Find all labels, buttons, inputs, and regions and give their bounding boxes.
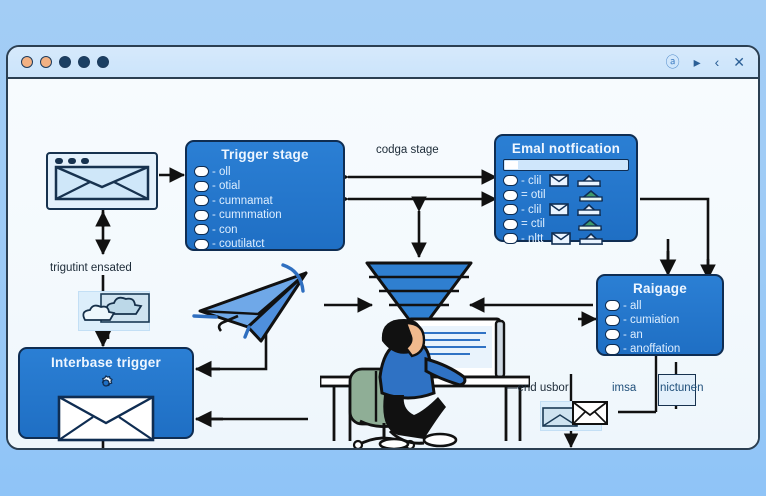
list-item[interactable]: - clil bbox=[503, 203, 629, 216]
bullet-icon bbox=[605, 315, 620, 326]
card-interbase-trigger[interactable]: Interbase trigger bbox=[18, 347, 194, 439]
play-icon[interactable]: ▸ bbox=[694, 55, 701, 69]
list-item[interactable]: - con bbox=[194, 223, 336, 236]
list-item[interactable]: - cumnamat bbox=[194, 194, 336, 207]
window-dot-2[interactable] bbox=[40, 56, 52, 68]
paper-plane-icon bbox=[188, 259, 338, 349]
cloud-panel[interactable] bbox=[78, 291, 150, 331]
label-codga-stage: codga stage bbox=[376, 144, 439, 156]
close-icon[interactable]: ✕ bbox=[733, 55, 745, 69]
bullet-icon bbox=[503, 204, 518, 215]
mini-dot-1 bbox=[55, 158, 63, 164]
envelope-icon bbox=[549, 174, 569, 187]
window-dots bbox=[21, 56, 109, 68]
list-item-label: - all bbox=[623, 300, 642, 312]
list-item[interactable]: - oll bbox=[194, 165, 336, 178]
card-trigger-stage[interactable]: Trigger stage - oll - otial - cumnamat -… bbox=[185, 140, 345, 251]
label-trigutint-ensated: trigutint ensated bbox=[50, 262, 132, 274]
bullet-icon bbox=[194, 181, 209, 192]
bullet-icon bbox=[503, 175, 518, 186]
label-end-usbor: —end usbor bbox=[506, 382, 569, 394]
mini-dot-2 bbox=[68, 158, 76, 164]
back-icon[interactable]: ‹ bbox=[715, 55, 720, 69]
cloud-icons bbox=[79, 292, 151, 332]
browser-window: ⓐ ▸ ‹ ✕ bbox=[6, 45, 760, 450]
window-envelope-icon[interactable] bbox=[46, 152, 158, 210]
list-item[interactable]: - all bbox=[605, 299, 715, 312]
bullet-icon bbox=[605, 300, 620, 311]
window-dot-1[interactable] bbox=[21, 56, 33, 68]
list-item-label: - clil bbox=[521, 204, 541, 216]
list-item-label: = ctil bbox=[521, 218, 545, 230]
window-controls: ⓐ ▸ ‹ ✕ bbox=[666, 55, 745, 69]
list-item-label: - cumnamat bbox=[212, 195, 273, 207]
list-item-label: - cumiation bbox=[623, 314, 679, 326]
envelope-icon bbox=[57, 395, 155, 442]
list-item-label: = otil bbox=[521, 189, 546, 201]
envelope-icon bbox=[549, 203, 569, 216]
card-title-trigger-stage: Trigger stage bbox=[194, 147, 336, 162]
bullet-icon bbox=[503, 190, 518, 201]
send-envelope-icon bbox=[541, 398, 611, 432]
person-at-desk-illustration bbox=[320, 311, 530, 450]
open-envelope-icon bbox=[577, 203, 601, 216]
window-dot-4[interactable] bbox=[78, 56, 90, 68]
label-nictunen: nictunen bbox=[660, 382, 703, 394]
envelope-icon bbox=[54, 165, 150, 201]
open-envelope-icon bbox=[579, 232, 603, 245]
envelope-panel[interactable] bbox=[540, 401, 602, 431]
open-envelope-icon bbox=[577, 174, 601, 187]
mini-dot-3 bbox=[81, 158, 89, 164]
card-title-raigage: Raigage bbox=[605, 281, 715, 296]
gear-icon[interactable] bbox=[96, 373, 116, 393]
window-dot-3[interactable] bbox=[59, 56, 71, 68]
bullet-icon bbox=[194, 195, 209, 206]
bullet-icon bbox=[605, 329, 620, 340]
card-email-notification[interactable]: Emal notfication - clil = otil bbox=[494, 134, 638, 242]
list-item[interactable]: = ctil bbox=[503, 218, 629, 231]
window-titlebar: ⓐ ▸ ‹ ✕ bbox=[8, 47, 758, 79]
bullet-icon bbox=[194, 239, 209, 250]
open-envelope-green-icon bbox=[578, 218, 602, 231]
bullet-icon bbox=[503, 233, 518, 244]
list-item-label: - an bbox=[623, 329, 643, 341]
progress-bar[interactable] bbox=[503, 159, 629, 171]
list-item[interactable]: - an bbox=[605, 328, 715, 341]
bullet-icon bbox=[194, 224, 209, 235]
list-item[interactable]: - cumiation bbox=[605, 314, 715, 327]
list-item[interactable]: - clil bbox=[503, 174, 629, 187]
list-item-label: - nltt bbox=[521, 233, 543, 245]
envelope-icon bbox=[551, 232, 571, 245]
list-item[interactable]: - cumnmation bbox=[194, 209, 336, 222]
card-title-interbase-trigger: Interbase trigger bbox=[27, 355, 185, 370]
list-item-label: - coutilatct bbox=[212, 238, 264, 250]
at-icon[interactable]: ⓐ bbox=[666, 55, 680, 69]
list-item[interactable]: - coutilatct bbox=[194, 238, 336, 251]
list-item-label: - cumnmation bbox=[212, 209, 282, 221]
bullet-icon bbox=[503, 219, 518, 230]
list-item[interactable]: = otil bbox=[503, 189, 629, 202]
list-item[interactable]: - otial bbox=[194, 180, 336, 193]
card-raigage[interactable]: Raigage - all - cumiation - an - anoffat… bbox=[596, 274, 724, 356]
window-dot-5[interactable] bbox=[97, 56, 109, 68]
card-title-email-notification: Emal notfication bbox=[503, 141, 629, 156]
list-item[interactable]: - nltt bbox=[503, 232, 629, 245]
list-item-label: - con bbox=[212, 224, 238, 236]
bullet-icon bbox=[605, 344, 620, 355]
list-item-label: - anoffation bbox=[623, 343, 680, 355]
list-item[interactable]: - anoffation bbox=[605, 343, 715, 356]
screenshot-root: ⓐ ▸ ‹ ✕ bbox=[0, 0, 766, 496]
diagram-canvas: Trigger stage - oll - otial - cumnamat -… bbox=[8, 79, 758, 450]
open-envelope-green-icon bbox=[579, 189, 603, 202]
bullet-icon bbox=[194, 166, 209, 177]
list-item-label: - oll bbox=[212, 166, 231, 178]
bullet-icon bbox=[194, 210, 209, 221]
list-item-label: - clil bbox=[521, 175, 541, 187]
list-item-label: - otial bbox=[212, 180, 240, 192]
